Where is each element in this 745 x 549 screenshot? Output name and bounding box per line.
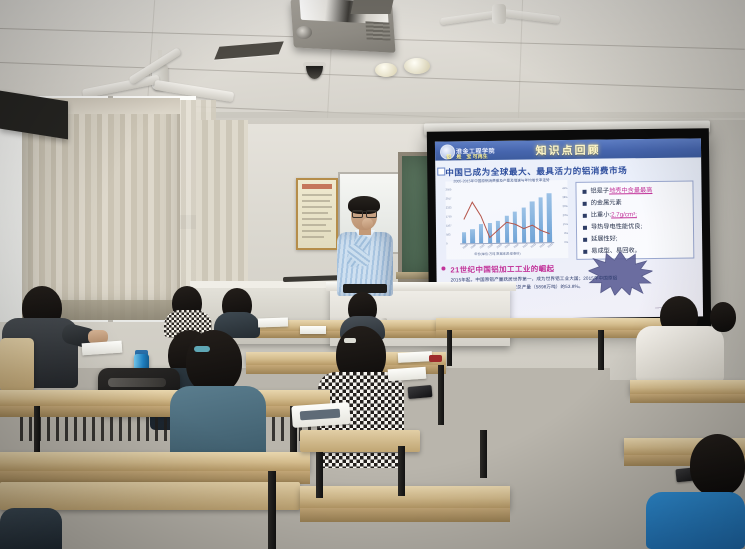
chart-y-tick: 3500 bbox=[445, 188, 451, 191]
fan-motor bbox=[492, 4, 506, 24]
list-bullet-icon bbox=[583, 190, 587, 194]
chart-y-tick-right: 30% bbox=[562, 205, 567, 208]
desk-leg bbox=[268, 471, 276, 549]
desk-leg bbox=[438, 365, 444, 425]
list-item-accent-text: 地壳中含量最高 bbox=[609, 187, 652, 195]
fan-blade bbox=[82, 75, 160, 99]
list-bullet-icon bbox=[583, 250, 587, 254]
desk-leg bbox=[447, 330, 452, 366]
chart-line-series bbox=[459, 188, 554, 243]
chart-x-tick: 2012 bbox=[522, 243, 528, 249]
chart-caption: 2005-2015年中国原铝消费量及产量及增速与年均增长率走势 bbox=[453, 178, 549, 184]
list-bullet-icon bbox=[583, 214, 587, 218]
starburst-badge bbox=[588, 251, 653, 296]
chart-y-tick: 0 bbox=[446, 242, 447, 245]
desk-leg bbox=[598, 330, 604, 370]
list-bullet-icon bbox=[583, 238, 587, 242]
smartphone bbox=[408, 385, 433, 399]
chart-x-tick: 2014 bbox=[539, 243, 545, 249]
ceiling-light bbox=[404, 58, 430, 74]
chart-x-tick: 2009 bbox=[496, 243, 502, 249]
chart-y-tick: 1167 bbox=[446, 224, 452, 227]
bench-leg bbox=[316, 452, 323, 498]
notice-text-line bbox=[302, 230, 331, 232]
curtain-panel bbox=[196, 120, 248, 300]
student-head bbox=[690, 434, 745, 496]
chart-y-tick-right: 15% bbox=[563, 223, 568, 226]
glasses-bridge bbox=[352, 211, 376, 217]
chart-x-tick: 2015 bbox=[547, 243, 553, 249]
chart-y-tick: 2333 bbox=[446, 206, 452, 209]
student-body-blue-shirt bbox=[646, 492, 745, 549]
list-item-text: 比重小: bbox=[591, 211, 611, 218]
chart-y-tick-right: 45% bbox=[562, 187, 567, 190]
list-item-text: 延展性好; bbox=[591, 235, 618, 242]
classroom-photo: 淮金工程学院 知识点回顾 中国已成为全球最大、最具活力的铝消费市场 2005-2… bbox=[0, 0, 745, 549]
list-item: 的金属元素 bbox=[591, 200, 622, 207]
chart-y-tick: 583 bbox=[446, 233, 450, 236]
chart-x-tick: 2011 bbox=[513, 243, 519, 249]
section-heading: 21世纪中国铝加工工业的崛起 bbox=[450, 263, 554, 275]
red-stationery bbox=[429, 355, 442, 362]
ceiling-fan-far bbox=[440, 0, 570, 40]
paper-sheet bbox=[300, 326, 326, 334]
notice-text-line bbox=[302, 236, 324, 238]
bench-leg bbox=[480, 430, 487, 478]
student-head bbox=[186, 330, 242, 394]
notebook bbox=[388, 367, 427, 382]
desk-row-bottom bbox=[0, 452, 310, 471]
notice-text-line bbox=[302, 212, 328, 214]
notice-text-line bbox=[302, 218, 332, 220]
desk-front-panel bbox=[0, 406, 330, 417]
notice-title-bar bbox=[302, 184, 332, 189]
chart-x-tick: 2006 bbox=[470, 244, 476, 250]
paper-sheet bbox=[398, 351, 432, 363]
list-item-text: 导热导电性能优良; bbox=[591, 223, 642, 231]
notice-text-line bbox=[302, 194, 332, 196]
chart-y-tick: 2917 bbox=[446, 197, 452, 200]
ceiling-light bbox=[375, 63, 397, 77]
hair-clip bbox=[344, 338, 356, 343]
list-item: 导热导电性能优良; bbox=[591, 224, 642, 231]
chart-y-tick-right: 8% bbox=[564, 232, 568, 235]
chart-y-tick: 1750 bbox=[446, 215, 452, 218]
chart-x-tick: 2007 bbox=[479, 243, 485, 249]
lecturer-hand bbox=[362, 218, 373, 229]
av-console-top bbox=[190, 281, 340, 288]
slide-heading: 中国已成为全球最大、最具活力的铝消费市场 bbox=[445, 164, 627, 178]
chart-y-tick-right: 0% bbox=[564, 241, 568, 244]
list-item: 比重小:2.7g/cm³; bbox=[591, 212, 637, 219]
list-item-text: 铝是子 bbox=[590, 188, 609, 195]
student-body-partial bbox=[0, 508, 62, 549]
desk-right bbox=[630, 380, 745, 394]
list-bullet-icon bbox=[583, 202, 587, 206]
list-bullet-icon bbox=[583, 226, 587, 230]
hair-tie bbox=[194, 346, 210, 352]
chart-area: 2005-2015年中国原铝消费量及产量及增速与年均增长率走势 20052006… bbox=[445, 180, 568, 259]
list-item: 铝是子地壳中含量最高 bbox=[590, 188, 652, 195]
notice-text-line bbox=[302, 224, 326, 226]
notice-text-line bbox=[302, 200, 330, 202]
bench-seat bbox=[0, 482, 300, 510]
chart-x-tick: 2005 bbox=[462, 244, 468, 250]
backpack-strap bbox=[108, 378, 166, 387]
lecturer bbox=[331, 196, 399, 296]
projector-vent bbox=[365, 21, 390, 40]
notice-text-line bbox=[302, 206, 332, 208]
desk-front-panel bbox=[300, 508, 510, 522]
desk-row-bottom-right bbox=[300, 486, 510, 508]
bench-leg bbox=[398, 446, 405, 496]
chart-x-tick: 2008 bbox=[488, 243, 494, 249]
list-item-accent-text: 2.7g/cm³; bbox=[611, 211, 637, 218]
student-head bbox=[710, 302, 736, 332]
list-item: 延展性好; bbox=[591, 236, 618, 243]
chart-y-tick-right: 23% bbox=[563, 214, 568, 217]
section-bullet-icon bbox=[441, 267, 445, 271]
chart-y-tick-right: 38% bbox=[562, 196, 567, 199]
desk-row-front bbox=[0, 390, 330, 406]
starburst-text: 铝 是 宝 可再生 bbox=[435, 154, 499, 162]
paper-sheet bbox=[258, 317, 288, 327]
list-item-text: 的金属元素 bbox=[591, 199, 622, 206]
chart-plot: 2005200620072008200920102011201220132014… bbox=[459, 188, 554, 243]
chart-x-label: 年份(单位:万吨 数据来源:安泰科) bbox=[474, 251, 520, 257]
desk-front-panel bbox=[630, 394, 745, 403]
student-body-white-shirt bbox=[636, 326, 724, 382]
chart-x-tick: 2010 bbox=[505, 243, 511, 249]
bullet-list-box: 铝是子地壳中含量最高的金属元素比重小:2.7g/cm³;导热导电性能优良;延展性… bbox=[575, 180, 694, 259]
chart-x-tick: 2013 bbox=[530, 243, 536, 249]
chair-back bbox=[0, 338, 34, 392]
heading-bullet-icon bbox=[437, 168, 445, 176]
projector-mount bbox=[351, 0, 394, 14]
